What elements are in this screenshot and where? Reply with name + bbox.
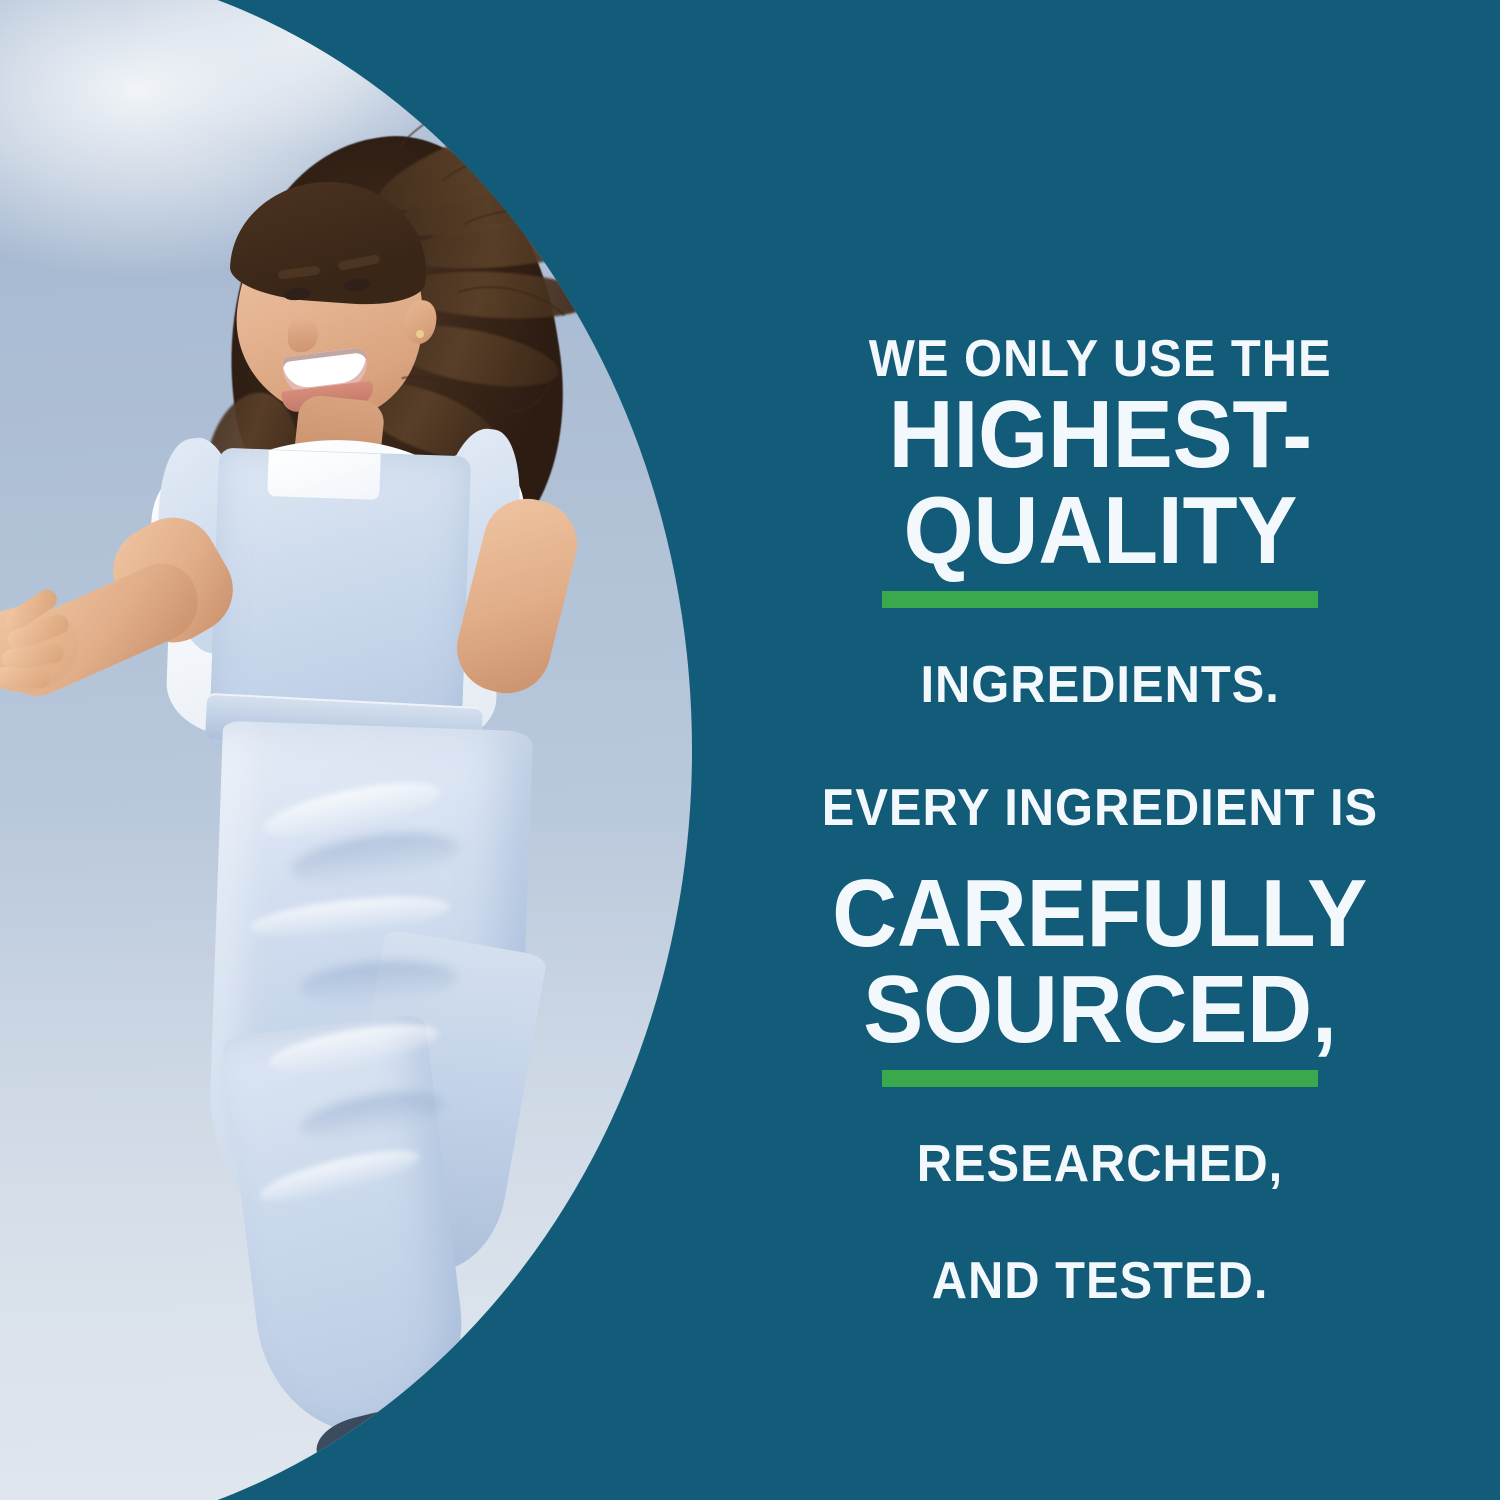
headline-line-7: SOURCED, (863, 962, 1336, 1058)
message-panel: WE ONLY USE THE HIGHEST- QUALITY INGREDI… (700, 0, 1500, 1500)
headline-line-9: AND TESTED. (932, 1254, 1269, 1309)
pinafore-neckline (267, 450, 381, 500)
headline-line-3: QUALITY (903, 483, 1297, 579)
earring (416, 330, 424, 338)
headline-line-1: WE ONLY USE THE (869, 332, 1332, 387)
running-girl-illustration (0, 0, 692, 1500)
headline-line-6: CAREFULLY (833, 866, 1368, 962)
green-accent-bar-2 (882, 1070, 1318, 1087)
marketing-banner: WE ONLY USE THE HIGHEST- QUALITY INGREDI… (0, 0, 1500, 1500)
green-accent-bar-1 (882, 591, 1318, 608)
hero-photo (0, 0, 692, 1500)
headline-line-4: INGREDIENTS. (920, 658, 1279, 713)
headline-line-8: RESEARCHED, (917, 1137, 1284, 1192)
finger (0, 666, 51, 689)
headline-line-5: EVERY INGREDIENT IS (822, 781, 1378, 836)
headline-line-2: HIGHEST- (888, 387, 1311, 483)
